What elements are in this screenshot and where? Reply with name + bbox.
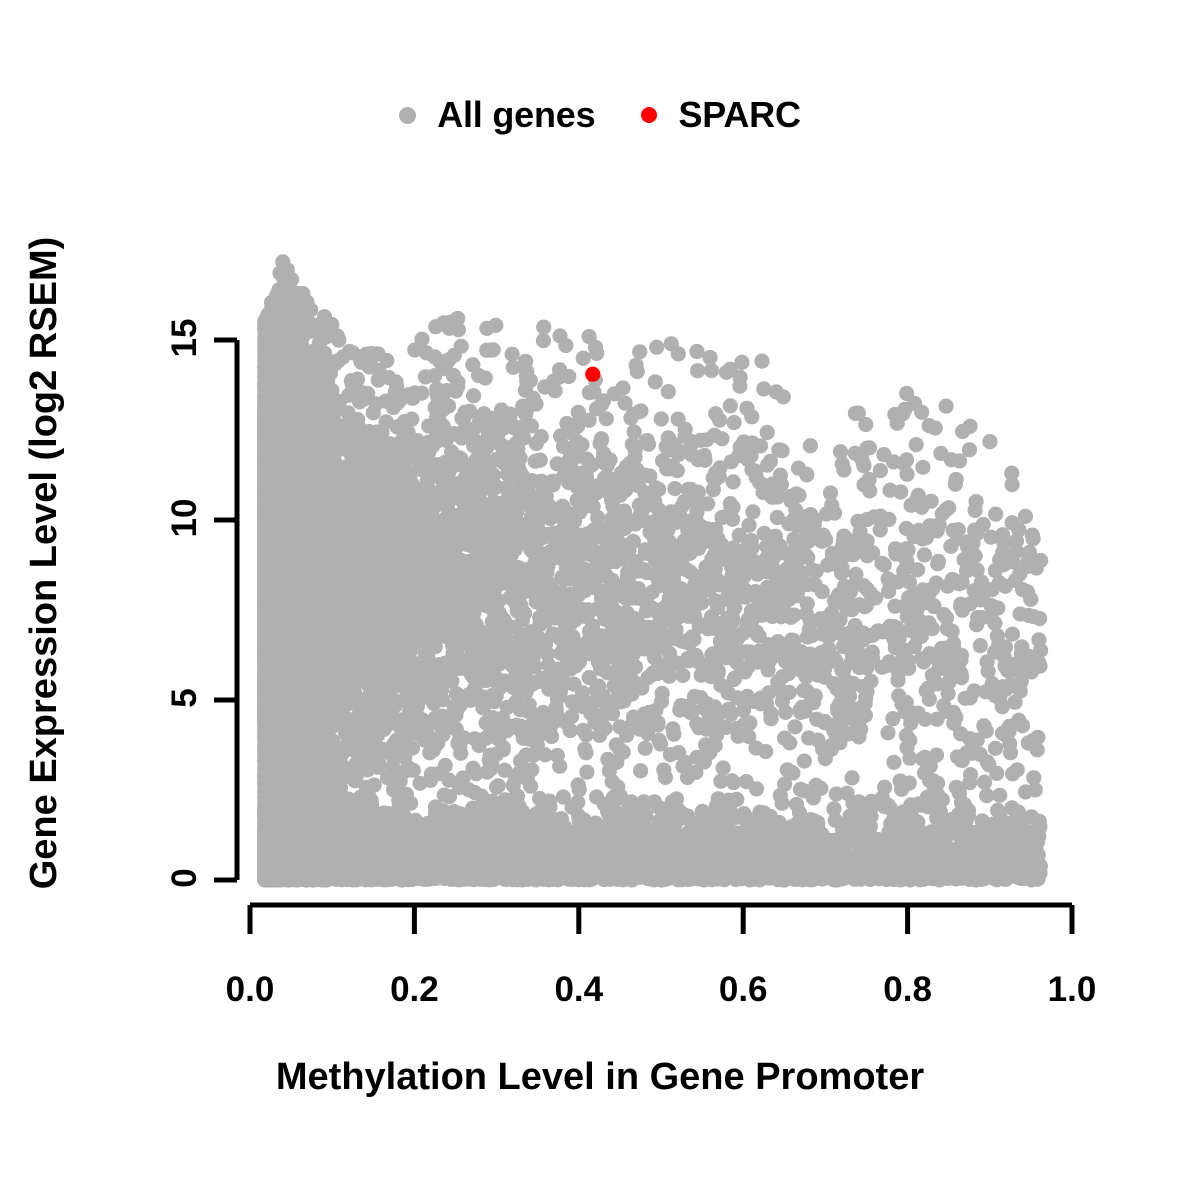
y-axis-title: Gene Expression Level (log2 RSEM) bbox=[23, 237, 66, 890]
x-tick-label: 0.2 bbox=[354, 970, 474, 1010]
x-tick-label: 0.8 bbox=[848, 970, 968, 1010]
sparc-point-marker bbox=[585, 367, 600, 382]
x-tick-label: 0.0 bbox=[190, 970, 310, 1010]
x-tick-label: 1.0 bbox=[1012, 970, 1132, 1010]
y-tick-label: 5 bbox=[165, 653, 205, 743]
x-axis-title: Methylation Level in Gene Promoter bbox=[0, 1056, 1200, 1099]
scatter-plot-figure: All genes SPARC 051015 0.00.20.40.60.81.… bbox=[0, 0, 1200, 1200]
data-points-layer bbox=[257, 254, 1048, 887]
y-axis-title-wrapper: Gene Expression Level (log2 RSEM) bbox=[21, 143, 67, 983]
x-tick-label: 0.4 bbox=[519, 970, 639, 1010]
plot-canvas bbox=[0, 0, 1200, 1200]
x-tick-label: 0.6 bbox=[683, 970, 803, 1010]
y-tick-label: 15 bbox=[165, 293, 205, 383]
sparc-data-point bbox=[585, 367, 600, 382]
y-tick-label: 0 bbox=[165, 833, 205, 923]
y-tick-label: 10 bbox=[165, 473, 205, 563]
